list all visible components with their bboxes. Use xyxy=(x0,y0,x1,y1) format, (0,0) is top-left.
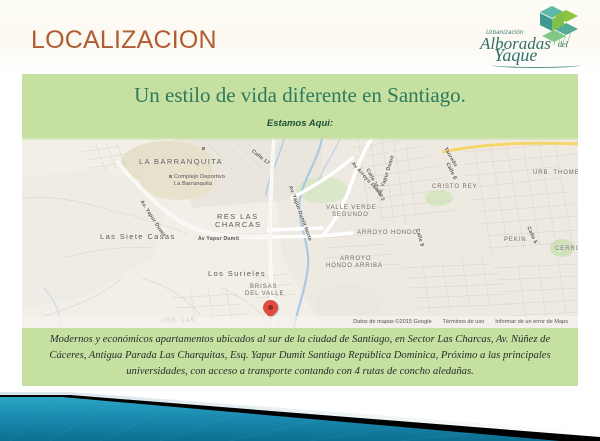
page-title: LOCALIZACION xyxy=(31,26,217,55)
map-place-label: LA BARRANQUITA xyxy=(139,157,223,166)
map-place-label: BRISAS xyxy=(250,284,277,290)
map-road-label: Av Yapur Dumit xyxy=(198,236,239,242)
map-place-label: Los Surieles xyxy=(208,269,266,278)
map-attribution-bar: Datos de mapas ©2015 Google Términos de … xyxy=(22,316,578,328)
headline-text: Un estilo de vida diferente en Santiago. xyxy=(22,83,578,108)
map-place-label: PEKIN xyxy=(504,237,527,243)
map-place-label: La Barranquita xyxy=(174,181,212,187)
logo-del-text: del xyxy=(558,40,568,49)
brand-logo: Urbanización Alboradas del Yaque xyxy=(478,4,590,66)
map-place-label: DEL VALLE xyxy=(245,291,284,297)
description-line-1: Modernos y económicos apartamentos ubica… xyxy=(40,332,560,348)
map-place-label: Complejo Deportivo xyxy=(174,174,225,180)
footer-decoration xyxy=(0,386,600,441)
description-line-2: Cáceres, Antigua Parada Las Charquitas, … xyxy=(40,348,560,364)
marker-center-dot xyxy=(268,305,273,310)
map-place-label: VALLE VERDE xyxy=(326,205,376,211)
map-poi-dot xyxy=(202,147,205,150)
slide-canvas: LOCALIZACION Urbanización xyxy=(0,0,600,441)
map-place-label: SEGUNDO xyxy=(332,212,369,218)
map-place-label: CERROS DEL S xyxy=(555,246,578,252)
map-report-error-link[interactable]: Informar de un error de Maps xyxy=(495,319,568,325)
map-place-label: CRISTO REY xyxy=(432,184,478,190)
map-place-label: CHARCAS xyxy=(215,220,261,229)
map-place-label: HONDO ARRIBA xyxy=(326,263,383,269)
angled-ribbon-decoration xyxy=(0,386,600,441)
description-text: Modernos y económicos apartamentos ubica… xyxy=(40,332,560,380)
map-data-credit: Datos de mapas ©2015 Google xyxy=(353,319,431,325)
headline-banner: Un estilo de vida diferente en Santiago.… xyxy=(22,74,578,138)
description-line-3: universidades, con acceso a transporte c… xyxy=(40,364,560,380)
content-card: Un estilo de vida diferente en Santiago.… xyxy=(22,74,578,390)
location-map[interactable]: LA BARRANQUITAComplejo DeportivoLa Barra… xyxy=(22,138,578,328)
map-place-label: ARROYO xyxy=(340,256,371,262)
map-place-label: URB. THOMEN xyxy=(533,170,578,176)
logo-underline-flourish xyxy=(492,62,580,68)
map-terms-link[interactable]: Términos de uso xyxy=(443,319,485,325)
subheadline-text: Estamos Aqui: xyxy=(22,118,578,129)
map-place-label: ARROYO HONDO xyxy=(357,230,418,236)
map-poi-dot xyxy=(169,175,172,178)
